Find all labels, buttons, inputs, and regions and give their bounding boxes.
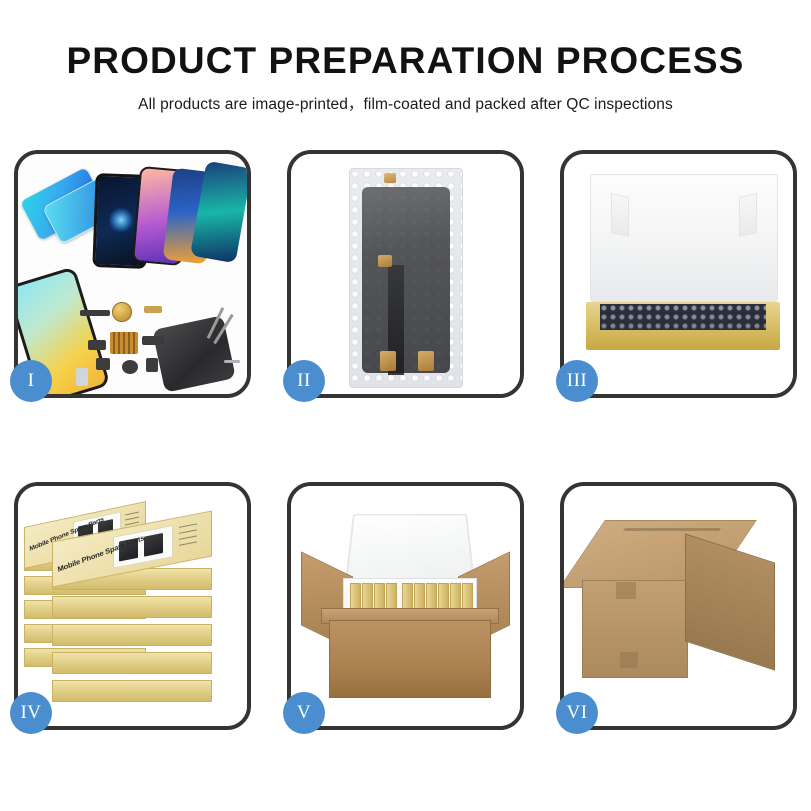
carton-body-icon <box>329 620 491 698</box>
gold-box-layer <box>52 624 212 646</box>
step-badge-1: I <box>10 360 52 402</box>
gold-box-layer <box>52 596 212 618</box>
flex-cable-icon <box>80 310 110 316</box>
gold-box-layer <box>52 680 212 702</box>
process-step-card-5[interactable]: V <box>287 482 524 730</box>
bubble-wrapped-screen-image <box>291 154 520 394</box>
gold-connector-left-icon <box>380 351 396 371</box>
gold-connector-right-icon <box>418 351 434 371</box>
stacked-boxes-image: Mobile Phone Spare Parts <box>18 486 247 726</box>
gold-box-layer <box>52 652 212 674</box>
sealed-carton-image <box>564 486 793 726</box>
tape-patch-lower-icon <box>620 652 638 668</box>
process-step-card-3[interactable]: III <box>560 150 797 398</box>
screw-icon <box>224 360 240 363</box>
product-preparation-process-page: PRODUCT PREPARATION PROCESS All products… <box>0 0 811 811</box>
sim-tray-icon <box>76 368 88 386</box>
process-step-card-4[interactable]: Mobile Phone Spare Parts <box>14 482 251 730</box>
label-screen-thumb-icon <box>144 533 163 557</box>
gold-connector-top-icon <box>378 255 392 267</box>
gold-tab-corner-icon <box>384 173 396 183</box>
spec-line <box>179 535 197 539</box>
step-badge-6: VI <box>556 692 598 734</box>
small-part-c-icon <box>96 358 110 370</box>
gold-box-base-icon <box>586 302 780 350</box>
small-part-b-icon <box>142 336 164 345</box>
page-header: PRODUCT PREPARATION PROCESS All products… <box>0 42 811 114</box>
small-part-a-icon <box>88 340 106 350</box>
process-step-card-6[interactable]: VI <box>560 482 797 730</box>
camera-module-icon <box>122 360 138 374</box>
inner-box-packing-image <box>564 154 793 394</box>
white-box-lid-icon <box>590 174 778 302</box>
spec-line <box>125 512 139 516</box>
step-badge-4: IV <box>10 692 52 734</box>
gold-clip-icon <box>144 306 162 313</box>
foam-lid-icon <box>344 514 475 587</box>
spec-line <box>179 529 197 533</box>
process-step-card-2[interactable]: II <box>287 150 524 398</box>
parts-collage-image <box>18 154 247 394</box>
spec-line <box>179 523 197 527</box>
carton-top-seam-icon <box>623 528 721 531</box>
spec-line <box>179 541 197 545</box>
lcd-assembly-icon <box>362 187 450 373</box>
lid-flap-left-icon <box>611 193 629 237</box>
lid-flap-right-icon <box>739 193 757 237</box>
page-title: PRODUCT PREPARATION PROCESS <box>0 42 811 81</box>
connector-chip-icon <box>110 332 138 354</box>
spec-line <box>125 517 139 521</box>
speaker-coil-icon <box>112 302 132 322</box>
carton-side-face-icon <box>685 533 775 670</box>
step-badge-3: III <box>556 360 598 402</box>
process-step-card-1[interactable]: I <box>14 150 251 398</box>
tape-patch-upper-icon <box>616 582 636 599</box>
process-step-grid: I II <box>14 150 797 730</box>
bubble-wrapped-contents-icon <box>600 304 766 330</box>
step-badge-5: V <box>283 692 325 734</box>
bubble-wrap-bag-icon <box>349 168 463 388</box>
foam-carton-loading-image <box>291 486 520 726</box>
small-part-d-icon <box>146 358 158 372</box>
step-badge-2: II <box>283 360 325 402</box>
page-subtitle: All products are image-printed，film-coat… <box>0 92 811 114</box>
